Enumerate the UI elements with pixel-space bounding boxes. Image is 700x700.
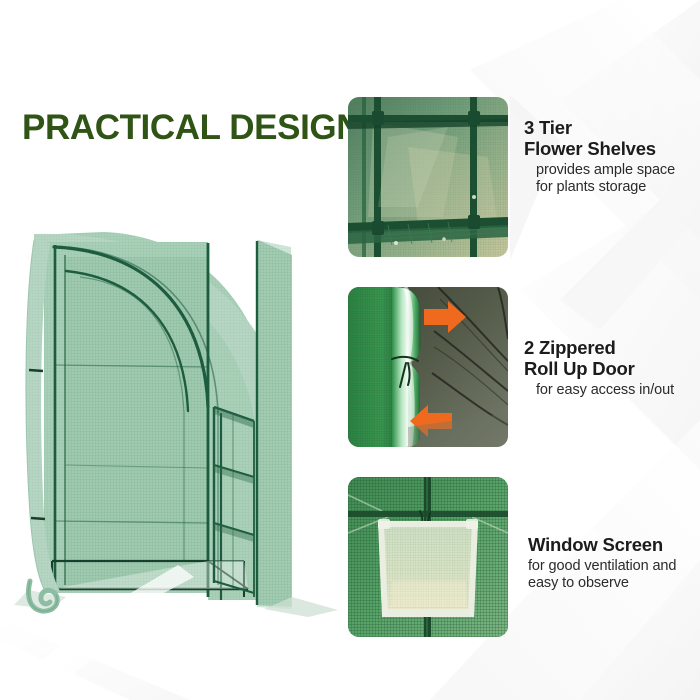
window-screen-photo (348, 477, 508, 637)
feature-heading-line-1: 3 Tier (524, 117, 700, 138)
roll-up-door-photo (348, 287, 508, 447)
feature-heading-line-1: 2 Zippered (524, 337, 700, 358)
greenhouse-drawing (8, 185, 348, 630)
page-title: PRACTICAL DESIGN (22, 108, 361, 148)
feature-sub-line-1: for good ventilation and (528, 558, 700, 575)
feature-photo-roll-up-door[interactable] (348, 287, 508, 447)
feature-sub-line-1: provides ample space (536, 162, 700, 179)
feature-sub-line-2: easy to observe (528, 575, 700, 592)
feature-sub-line-1: for easy access in/out (536, 382, 700, 399)
product-illustration (8, 185, 348, 630)
feature-text-roll-up-door: 2 Zippered Roll Up Door for easy access … (524, 337, 700, 399)
feature-photo-flower-shelves[interactable] (348, 97, 508, 257)
infographic-page: PRACTICAL DESIGN (0, 0, 700, 700)
feature-heading-line-1: Window Screen (528, 534, 700, 555)
feature-text-flower-shelves: 3 Tier Flower Shelves provides ample spa… (524, 117, 700, 196)
feature-heading-line-2: Flower Shelves (524, 138, 700, 159)
feature-text-window-screen: Window Screen for good ventilation and e… (524, 534, 700, 592)
feature-heading-line-2: Roll Up Door (524, 358, 700, 379)
three-tier-shelves-photo (348, 97, 508, 257)
feature-sub-line-2: for plants storage (536, 179, 700, 196)
feature-photo-window-screen[interactable] (348, 477, 508, 637)
window-panel (378, 521, 478, 617)
